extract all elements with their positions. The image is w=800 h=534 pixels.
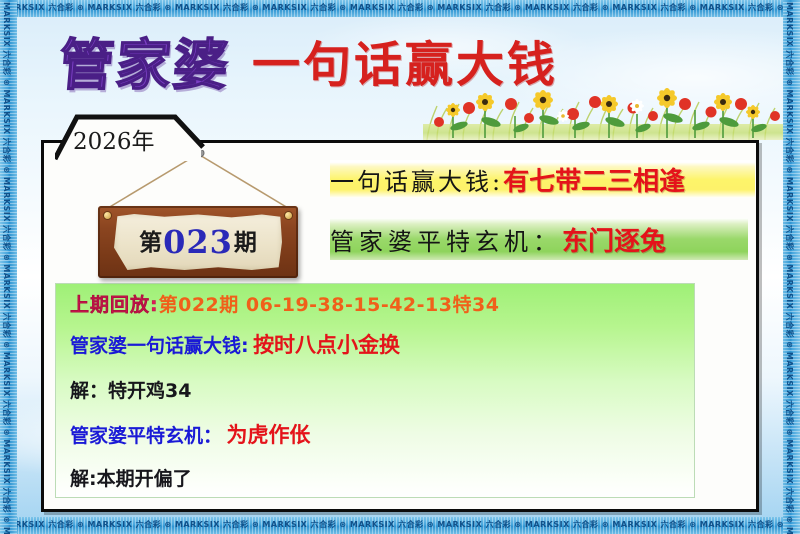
brand-title: 管家婆	[57, 38, 233, 93]
banner-xuanji: 管家婆平特玄机： 东门逐兔	[330, 218, 748, 260]
banner-xuanji-lead: 管家婆平特玄机：	[330, 222, 562, 257]
poster-title: 管家婆 一句话赢大钱	[17, 22, 783, 108]
poster-root: MARKSIX 六合彩 ⊛ MARKSIX 六合彩 ⊛ MARKSIX 六合彩 …	[0, 0, 800, 534]
sign-peg-left	[104, 212, 111, 219]
issue-sign: 第 023 期	[60, 150, 330, 285]
banner-phrase-lead: 一句话赢大钱:	[330, 162, 503, 197]
year-tag: 2026年	[55, 113, 207, 161]
border-strip-top: MARKSIX 六合彩 ⊛ MARKSIX 六合彩 ⊛ MARKSIX 六合彩 …	[0, 0, 800, 17]
border-strip-right: MARKSIX 六合彩 ⊛ MARKSIX 六合彩 ⊛ MARKSIX 六合彩 …	[783, 0, 800, 534]
replay-numbers: 06-19-38-15-42-13特34	[246, 294, 500, 316]
sign-paper: 第 023 期	[114, 214, 282, 270]
phrase-answer: 按时八点小金换	[253, 333, 400, 357]
phrase-lead: 管家婆一句话赢大钱:	[70, 335, 249, 357]
banner-phrase: 一句话赢大钱: 有七带二三相逢	[330, 160, 755, 198]
issue-number: 023	[163, 226, 233, 258]
sign-board: 第 023 期	[98, 206, 298, 278]
xuanji-answer: 为虎作伥	[226, 423, 310, 447]
issue-prefix: 第	[139, 231, 162, 254]
border-strip-text: MARKSIX 六合彩 ⊛ MARKSIX 六合彩 ⊛ MARKSIX 六合彩 …	[0, 2, 14, 534]
replay-row: 上期回放:第022期 06-19-38-15-42-13特34	[70, 296, 694, 315]
replay-numbers-space	[239, 294, 246, 316]
issue-suffix: 期	[234, 231, 257, 254]
explain-2-text: 解:本期开偏了	[70, 468, 192, 490]
border-strip-bottom: MARKSIX 六合彩 ⊛ MARKSIX 六合彩 ⊛ MARKSIX 六合彩 …	[0, 517, 800, 534]
replay-issue: 第022期	[159, 294, 239, 316]
sign-peg-right	[285, 212, 292, 219]
border-strip-text: MARKSIX 六合彩 ⊛ MARKSIX 六合彩 ⊛ MARKSIX 六合彩 …	[0, 0, 800, 16]
banner-phrase-answer: 有七带二三相逢	[503, 161, 685, 198]
banner-xuanji-answer: 东门逐兔	[562, 221, 666, 258]
slogan-title: 一句话赢大钱	[252, 41, 558, 89]
explain-row-1: 解：特开鸡34	[70, 382, 694, 401]
border-strip-left: MARKSIX 六合彩 ⊛ MARKSIX 六合彩 ⊛ MARKSIX 六合彩 …	[0, 0, 17, 534]
xuanji-lead: 管家婆平特玄机：	[70, 425, 222, 447]
replay-label: 上期回放:	[70, 294, 159, 316]
explain-1-text: 解：特开鸡34	[70, 380, 191, 402]
border-strip-text: MARKSIX 六合彩 ⊛ MARKSIX 六合彩 ⊛ MARKSIX 六合彩 …	[0, 517, 800, 533]
explain-row-2: 解:本期开偏了	[70, 470, 694, 489]
phrase-row: 管家婆一句话赢大钱: 按时八点小金换	[70, 335, 694, 356]
year-label: 2026年	[73, 122, 155, 156]
xuanji-row: 管家婆平特玄机： 为虎作伥	[70, 425, 694, 446]
border-strip-text: MARKSIX 六合彩 ⊛ MARKSIX 六合彩 ⊛ MARKSIX 六合彩 …	[783, 2, 797, 534]
content-box: 上期回放:第022期 06-19-38-15-42-13特34 管家婆一句话赢大…	[55, 283, 695, 498]
